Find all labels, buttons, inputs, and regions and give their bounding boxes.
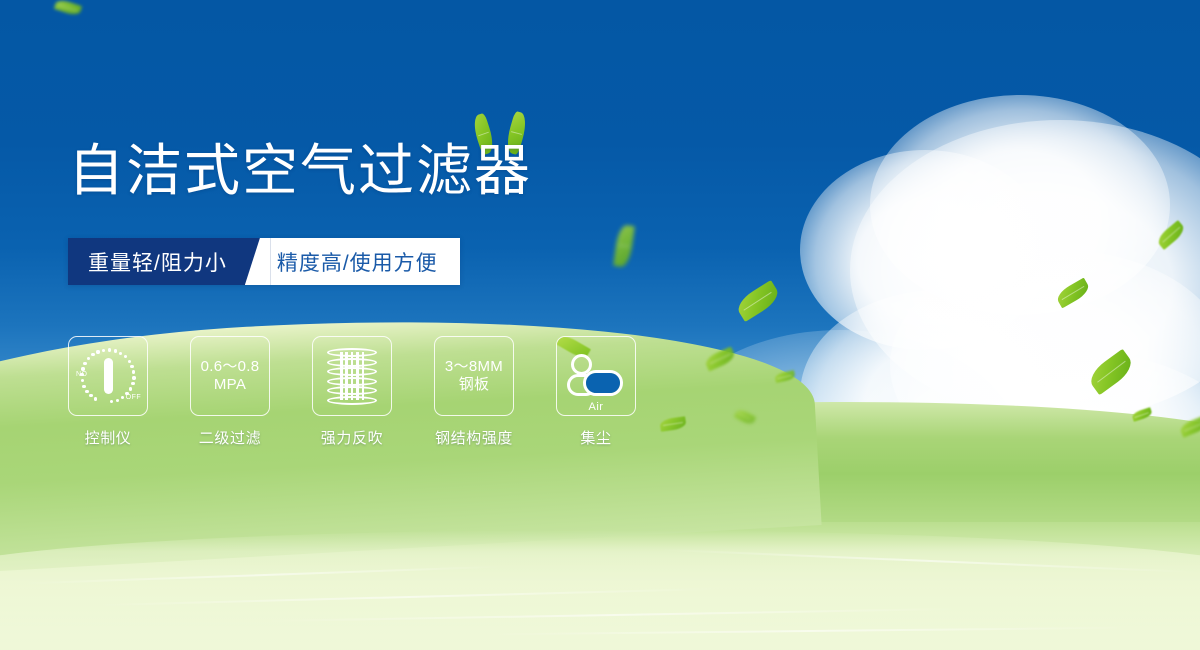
feature-icon-box: NO OFF: [68, 336, 148, 416]
dial-tick: [128, 360, 131, 363]
feature-caption: 控制仪: [85, 427, 132, 448]
feature-list: NO OFF 控制仪 0.6～0.8 MPA 二级过滤 强力反吹 3～8MM: [68, 336, 636, 448]
cartridge-ring: [327, 348, 377, 357]
cloud-fill: [586, 373, 620, 393]
page-title: 自洁式空气过滤器: [68, 143, 532, 199]
feature-item-control: NO OFF 控制仪: [68, 336, 148, 448]
dial-tick: [124, 355, 127, 358]
air-label: Air: [565, 401, 627, 413]
dial-pointer: [104, 358, 113, 394]
dial-tick: [83, 362, 86, 365]
dial-tick: [110, 400, 113, 403]
feature-icon-box: 3～8MM 钢板: [434, 336, 514, 416]
feature-item-filtration: 0.6～0.8 MPA 二级过滤: [190, 336, 270, 448]
feature-icon-box: [312, 336, 392, 416]
cartridge-ring: [327, 358, 377, 367]
control-dial-icon: NO OFF: [77, 345, 139, 407]
filter-cartridge-icon: [327, 348, 377, 404]
tagline-bar: 重量轻/阻力小 精度高/使用方便: [68, 238, 460, 285]
cartridge-ring: [327, 396, 377, 405]
dial-tick: [116, 399, 119, 402]
feature-caption: 钢结构强度: [435, 427, 513, 448]
dial-tick: [130, 365, 133, 368]
air-cloud-icon: Air: [565, 350, 627, 402]
feature-icon-box: Air: [556, 336, 636, 416]
feature-item-blowback: 强力反吹: [312, 336, 392, 448]
cartridge-ring: [327, 386, 377, 395]
dial-tick: [114, 349, 117, 352]
dial-tick: [81, 367, 84, 370]
dial-tick: [119, 352, 122, 355]
dial-tick: [81, 379, 84, 382]
dial-tick: [91, 353, 94, 356]
dial-tick: [82, 385, 85, 388]
dial-tick: [108, 348, 111, 351]
dial-tick: [96, 350, 99, 353]
feature-caption: 二级过滤: [199, 427, 261, 448]
feature-caption: 集尘: [580, 427, 611, 448]
tagline-left: 重量轻/阻力小: [68, 238, 245, 285]
feature-caption: 强力反吹: [321, 427, 383, 448]
feature-icon-box: 0.6～0.8 MPA: [190, 336, 270, 416]
feature-item-dust: Air 集尘: [556, 336, 636, 448]
steel-value-line1: 3～8MM: [445, 358, 503, 376]
dial-tick: [131, 382, 134, 385]
dial-tick: [132, 370, 135, 373]
pressure-value-line2: MPA: [214, 376, 246, 394]
cartridge-ring: [327, 367, 377, 376]
dial-tick: [89, 394, 92, 397]
steel-value-line2: 钢板: [459, 376, 490, 394]
product-banner: 自洁式空气过滤器 重量轻/阻力小 精度高/使用方便 NO OFF 控制仪 0.6…: [0, 0, 1200, 650]
cartridge-ring: [327, 377, 377, 386]
dial-tick: [85, 390, 88, 393]
dial-tick: [121, 396, 124, 399]
dial-tick: [94, 397, 97, 400]
dial-tick: [102, 349, 105, 352]
tagline-divider: [245, 238, 271, 285]
feature-item-steel: 3～8MM 钢板 钢结构强度: [434, 336, 514, 448]
dial-tick: [87, 357, 90, 360]
tagline-right: 精度高/使用方便: [271, 238, 460, 285]
dial-tick: [129, 387, 132, 390]
pressure-value-line1: 0.6～0.8: [201, 358, 260, 376]
dial-label-off: OFF: [126, 394, 141, 401]
dial-tick: [132, 376, 135, 379]
